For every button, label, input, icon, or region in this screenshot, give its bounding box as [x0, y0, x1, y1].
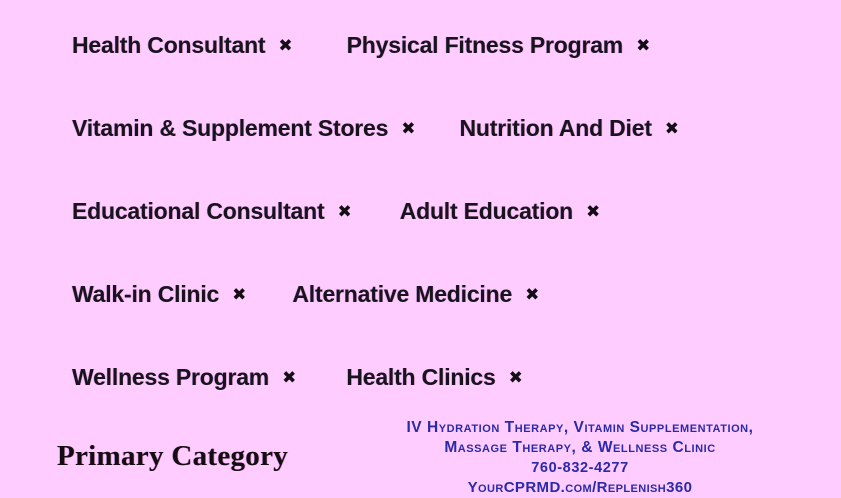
brand-website-url[interactable]: YourCPRMD.com/Replenish360 [330, 478, 830, 498]
category-label: Alternative Medicine [292, 283, 512, 306]
separator-x-icon: ✖ [232, 287, 246, 304]
category-label: Health Consultant [72, 34, 265, 57]
separator-x-icon: ✖ [278, 38, 292, 55]
category-label: Nutrition And Diet [460, 117, 652, 140]
category-row: Vitamin & Supplement Stores ✖ Nutrition … [72, 111, 679, 145]
category-tag[interactable]: Alternative Medicine ✖ [292, 283, 539, 306]
category-tag[interactable]: Vitamin & Supplement Stores ✖ [72, 117, 416, 140]
brand-services-line-1: IV Hydration Therapy, Vitamin Supplement… [330, 418, 830, 438]
brand-info-block: IV Hydration Therapy, Vitamin Supplement… [330, 418, 830, 498]
category-tag[interactable]: Physical Fitness Program ✖ [347, 34, 651, 57]
category-row: Health Consultant ✖ Physical Fitness Pro… [72, 28, 650, 62]
category-label: Health Clinics [346, 366, 495, 389]
poster-canvas: Health Consultant ✖ Physical Fitness Pro… [0, 0, 841, 498]
brand-phone-number[interactable]: 760-832-4277 [330, 458, 830, 478]
category-tag[interactable]: Health Clinics ✖ [346, 366, 523, 389]
category-label: Adult Education [400, 200, 573, 223]
brand-services-line-2: Massage Therapy, & Wellness Clinic [330, 438, 830, 458]
category-label: Educational Consultant [72, 200, 324, 223]
separator-x-icon: ✖ [509, 370, 523, 387]
category-label: Wellness Program [72, 366, 269, 389]
category-tag[interactable]: Wellness Program ✖ [72, 366, 296, 389]
category-row: Educational Consultant ✖ Adult Education… [72, 194, 600, 228]
category-tag[interactable]: Health Consultant ✖ [72, 34, 293, 57]
primary-category-heading: Primary Category [57, 440, 288, 473]
category-label: Physical Fitness Program [347, 34, 623, 57]
separator-x-icon: ✖ [401, 121, 415, 138]
category-label: Walk-in Clinic [72, 283, 219, 306]
category-tag[interactable]: Nutrition And Diet ✖ [460, 117, 680, 140]
category-tag[interactable]: Adult Education ✖ [400, 200, 601, 223]
separator-x-icon: ✖ [525, 287, 539, 304]
separator-x-icon: ✖ [586, 204, 600, 221]
category-label: Vitamin & Supplement Stores [72, 117, 388, 140]
separator-x-icon: ✖ [665, 121, 679, 138]
category-row: Walk-in Clinic ✖ Alternative Medicine ✖ [72, 277, 539, 311]
category-row: Wellness Program ✖ Health Clinics ✖ [72, 360, 523, 394]
separator-x-icon: ✖ [636, 38, 650, 55]
separator-x-icon: ✖ [337, 204, 351, 221]
category-tag[interactable]: Educational Consultant ✖ [72, 200, 352, 223]
separator-x-icon: ✖ [282, 370, 296, 387]
category-tag[interactable]: Walk-in Clinic ✖ [72, 283, 246, 306]
